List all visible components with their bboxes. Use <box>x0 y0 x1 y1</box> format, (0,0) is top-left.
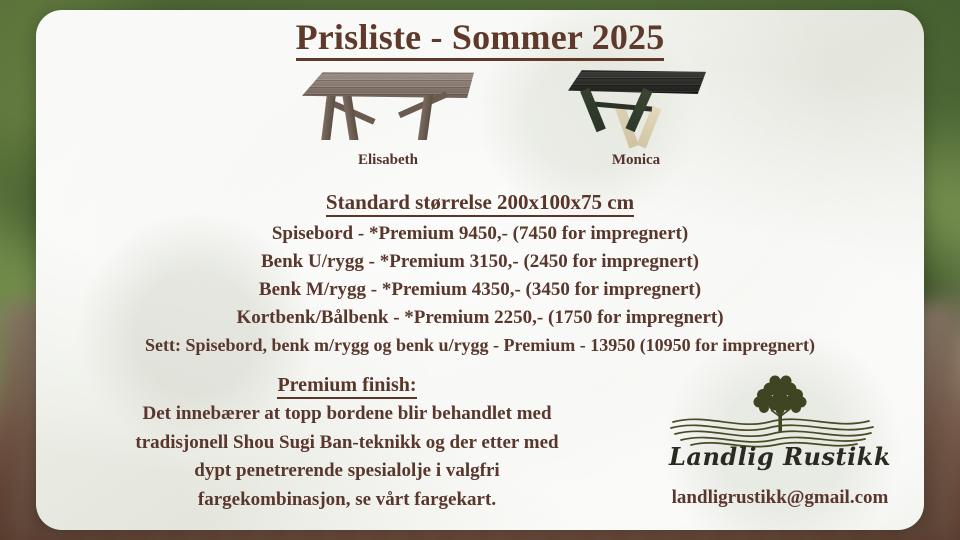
elisabeth-table-icon <box>288 62 488 150</box>
brand-logo-block: Landlig Rustikk landligrustikk@gmail.com <box>636 372 924 509</box>
premium-finish-line: fargekombinasjon, se vårt fargekart. <box>58 486 636 515</box>
premium-finish-line: dypt penetrerende spesialolje i valgfri <box>58 457 636 486</box>
content-card: Prisliste - Sommer 2025 Elisabeth <box>36 10 924 530</box>
premium-finish-line: Det innebærer at topp bordene blir behan… <box>58 400 636 429</box>
product-showcase: Elisabeth Monica <box>36 62 924 180</box>
premium-finish-heading: Premium finish: <box>58 374 636 397</box>
premium-finish-block: Premium finish: Det innebærer at topp bo… <box>58 374 636 514</box>
price-row: Spisebord - *Premium 9450,- (7450 for im… <box>36 220 924 248</box>
contact-email: landligrustikk@gmail.com <box>636 487 924 509</box>
standard-size-heading: Standard størrelse 200x100x75 cm <box>36 190 924 215</box>
premium-finish-heading-text: Premium finish: <box>277 374 416 399</box>
product-elisabeth-label: Elisabeth <box>288 152 488 169</box>
monica-table-icon <box>548 62 724 150</box>
page-title-text: Prisliste - Sommer 2025 <box>296 17 665 61</box>
brand-name: Landlig Rustikk <box>636 442 924 471</box>
product-monica-label: Monica <box>548 152 724 169</box>
price-row: Kortbenk/Bålbenk - *Premium 2250,- (1750… <box>36 304 924 332</box>
product-elisabeth: Elisabeth <box>288 62 488 169</box>
price-row: Benk M/rygg - *Premium 4350,- (3450 for … <box>36 276 924 304</box>
price-list: Spisebord - *Premium 9450,- (7450 for im… <box>36 220 924 359</box>
tree-icon <box>636 372 924 448</box>
poster: Prisliste - Sommer 2025 Elisabeth <box>0 0 960 540</box>
premium-finish-line: tradisjonell Shou Sugi Ban-teknikk og de… <box>58 429 636 458</box>
standard-size-text: Standard størrelse 200x100x75 cm <box>326 190 634 217</box>
product-monica: Monica <box>548 62 724 169</box>
price-row: Benk U/rygg - *Premium 3150,- (2450 for … <box>36 248 924 276</box>
price-row-set: Sett: Spisebord, benk m/rygg og benk u/r… <box>36 332 924 359</box>
page-title: Prisliste - Sommer 2025 <box>36 16 924 58</box>
